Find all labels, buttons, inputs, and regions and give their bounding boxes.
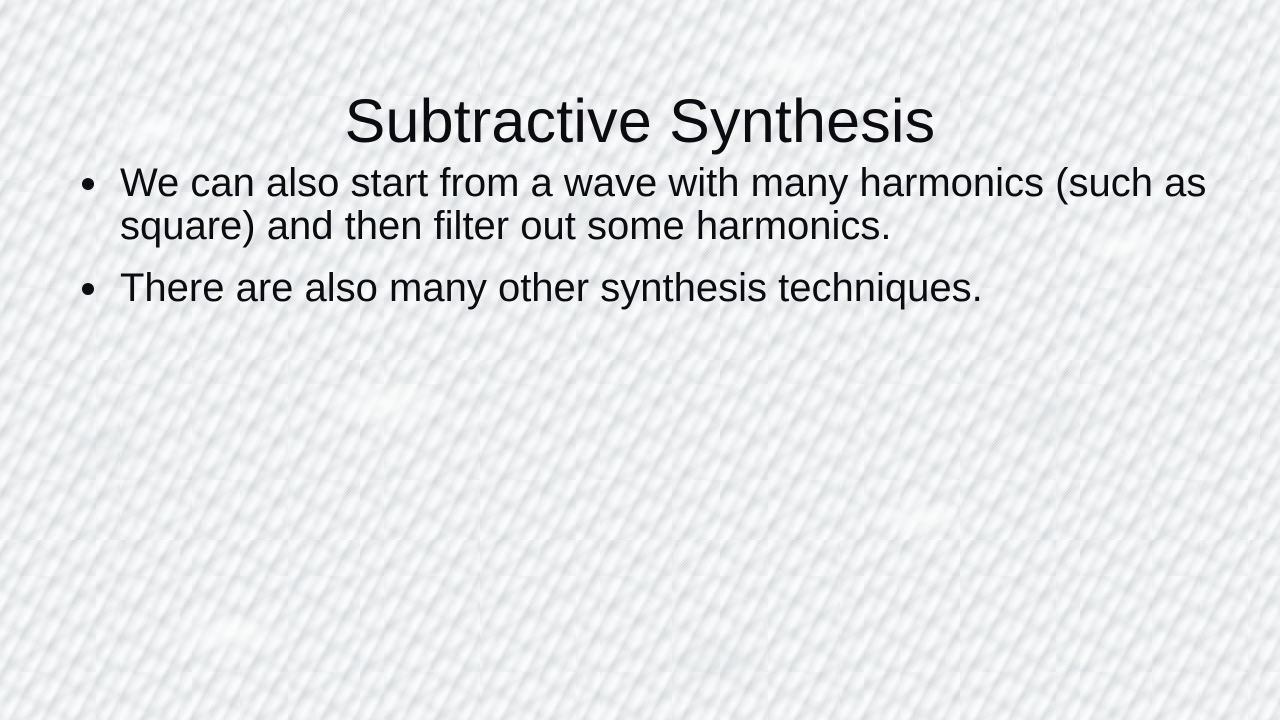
presentation-slide: Subtractive Synthesis We can also start … bbox=[0, 0, 1280, 720]
bullet-dot-icon bbox=[82, 283, 94, 295]
list-item: There are also many other synthesis tech… bbox=[78, 267, 1208, 310]
bullet-text: We can also start from a wave with many … bbox=[120, 162, 1208, 248]
bullet-list: We can also start from a wave with many … bbox=[78, 162, 1208, 310]
slide-content: Subtractive Synthesis We can also start … bbox=[0, 0, 1280, 720]
slide-title: Subtractive Synthesis bbox=[0, 89, 1280, 153]
bullet-dot-icon bbox=[82, 178, 94, 190]
list-item: We can also start from a wave with many … bbox=[78, 162, 1208, 248]
bullet-text: There are also many other synthesis tech… bbox=[120, 267, 1208, 310]
